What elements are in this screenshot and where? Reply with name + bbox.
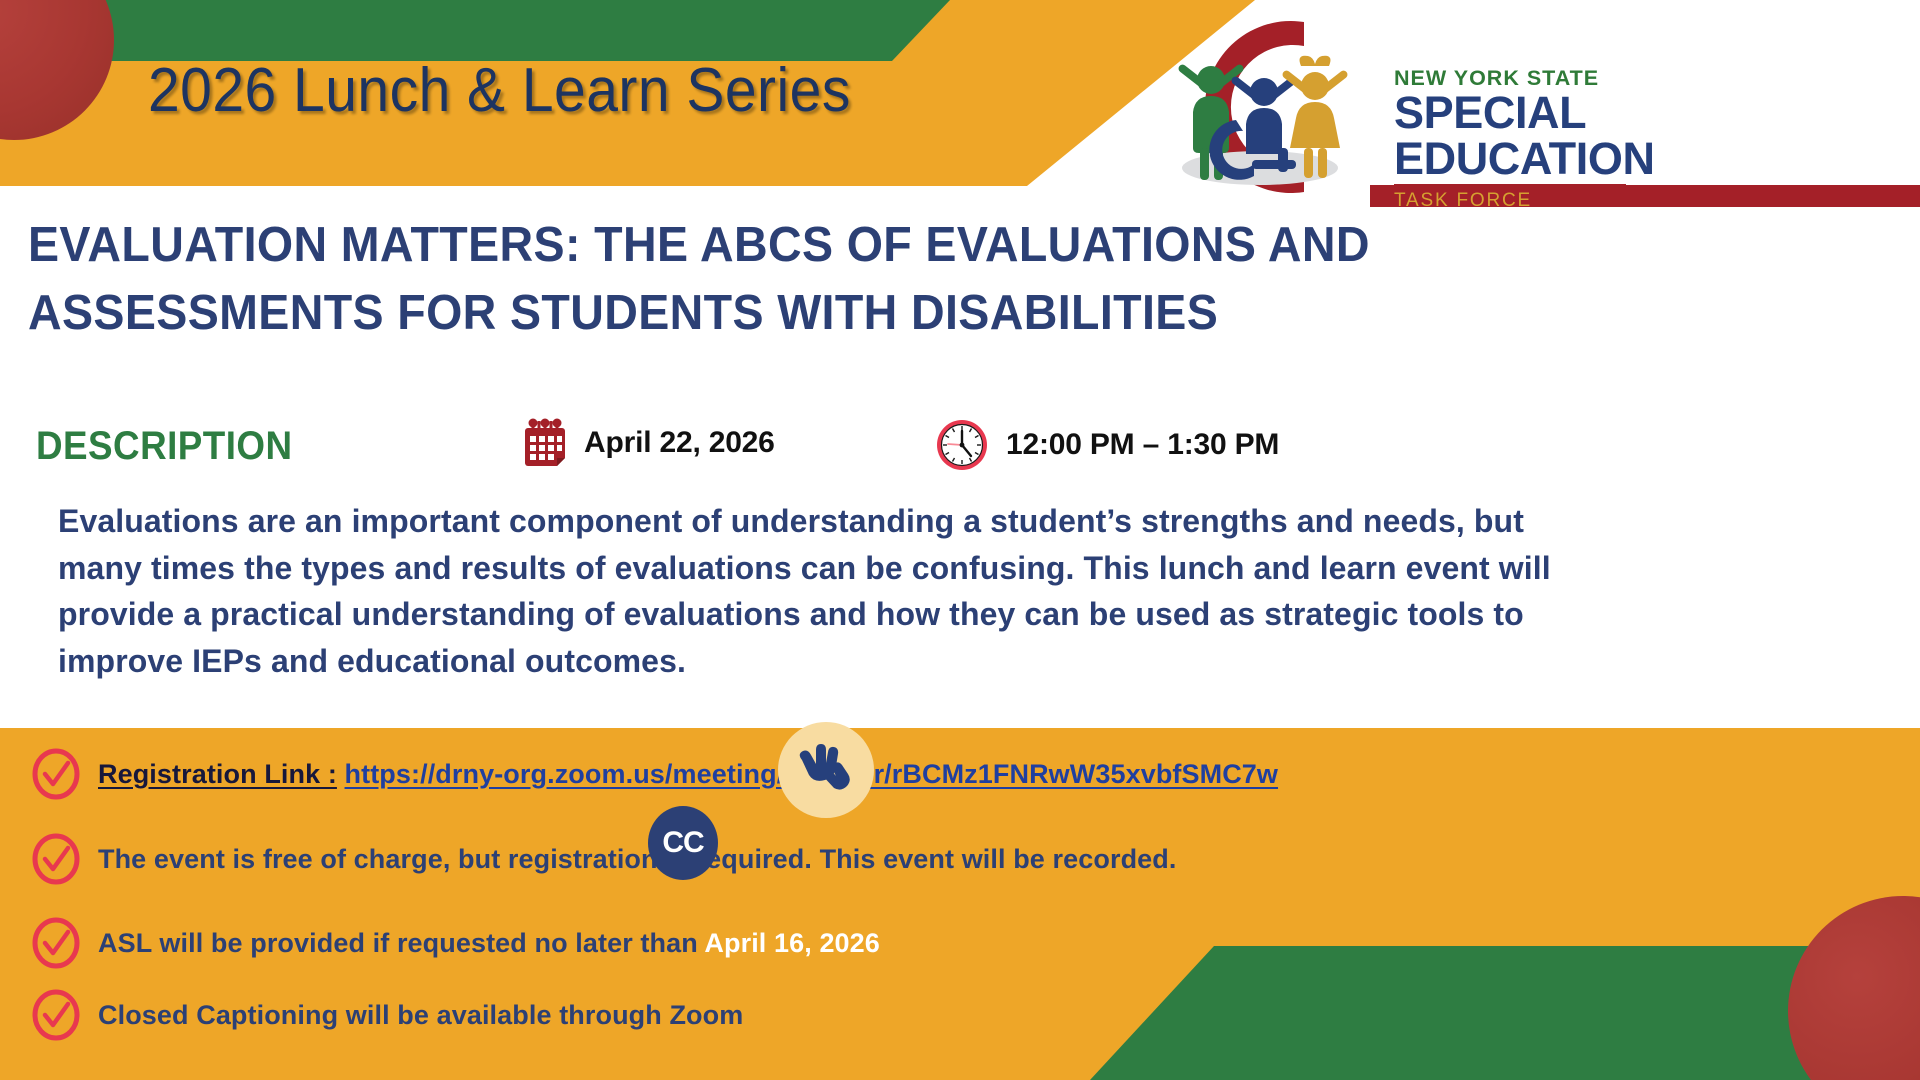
list-item-free-registration: The event is free of charge, but registr… (32, 831, 1176, 887)
check-circle-icon (32, 989, 80, 1041)
header-green-shape (0, 0, 950, 61)
nys-special-education-task-force-logo: NEW YORK STATE SPECIAL EDUCATION TASK FO… (1108, 8, 1920, 213)
footer-red-circle-decoration (1788, 896, 1920, 1080)
closed-captioning-text: Closed Captioning will be available thro… (98, 1000, 743, 1031)
logo-people-circle-icon (1108, 8, 1408, 206)
footer-banner: Registration Link : https://drny-org.zoo… (0, 728, 1920, 1080)
logo-divider-rule (1394, 184, 1626, 187)
logo-line-education: EDUCATION (1394, 136, 1655, 182)
logo-wordmark: NEW YORK STATE SPECIAL EDUCATION TASK FO… (1394, 66, 1655, 212)
registration-label: Registration Link : (98, 759, 337, 789)
check-circle-icon (32, 833, 80, 885)
clock-icon (934, 417, 990, 473)
asl-text: ASL will be provided if requested no lat… (98, 928, 880, 959)
event-time: 12:00 PM – 1:30 PM (1006, 428, 1279, 462)
closed-captioning-badge: CC (648, 806, 718, 880)
flyer-poster: 2026 Lunch & Learn Series (0, 0, 1920, 1080)
description-body: Evaluations are an important component o… (58, 498, 1578, 685)
registration-line: Registration Link : https://drny-org.zoo… (98, 759, 1278, 790)
logo-line-task-force: TASK FORCE (1394, 190, 1655, 212)
event-time-group: 12:00 PM – 1:30 PM (934, 417, 1279, 473)
page-title: EVALUATION MATTERS: THE ABCS OF EVALUATI… (28, 212, 1643, 347)
series-title: 2026 Lunch & Learn Series (148, 55, 851, 126)
logo-line-special: SPECIAL (1394, 90, 1655, 136)
cc-badge-label: CC (662, 826, 703, 860)
sign-language-hands-icon (794, 740, 858, 800)
list-item-closed-captioning: Closed Captioning will be available thro… (32, 987, 743, 1043)
asl-prefix: ASL will be provided if requested no lat… (98, 928, 698, 958)
list-item-registration[interactable]: Registration Link : https://drny-org.zoo… (32, 746, 1278, 802)
calendar-icon (520, 417, 570, 469)
list-item-asl: ASL will be provided if requested no lat… (32, 915, 880, 971)
asl-deadline-date: April 16, 2026 (704, 928, 880, 958)
check-circle-icon (32, 917, 80, 969)
description-heading: DESCRIPTION (36, 424, 293, 469)
event-date: April 22, 2026 (584, 426, 775, 460)
description-meta-row: DESCRIPTION (36, 424, 1536, 484)
event-date-group: April 22, 2026 (520, 417, 775, 469)
free-registration-text: The event is free of charge, but registr… (98, 844, 1176, 875)
asl-interpreting-badge (778, 722, 874, 818)
check-circle-icon (32, 748, 80, 800)
